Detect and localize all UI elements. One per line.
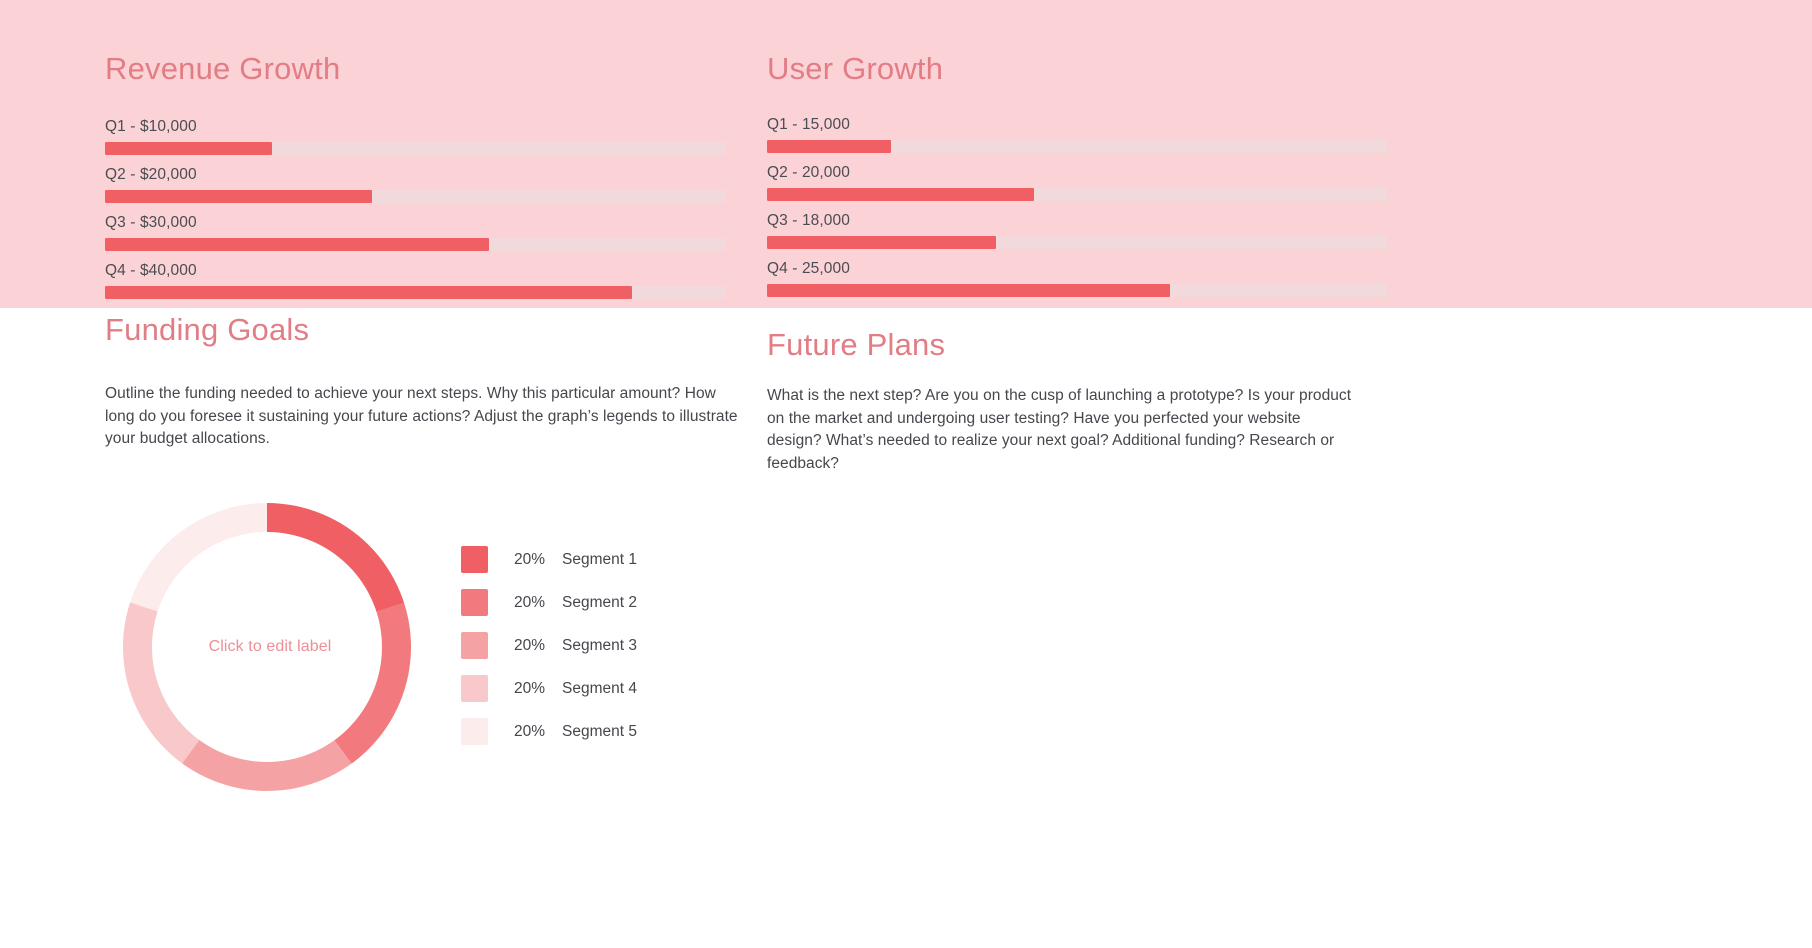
bar-track[interactable]: [767, 188, 1387, 201]
legend-percent: 20%: [514, 680, 558, 698]
legend-percent: 20%: [514, 637, 558, 655]
legend-swatch-icon: [461, 546, 488, 573]
donut-legend: 20% Segment 1 20% Segment 2 20% Segment …: [461, 538, 671, 753]
bar-group: Q4 - 25,000: [767, 260, 1387, 297]
funding-goals-title: Funding Goals: [105, 313, 745, 347]
legend-swatch-icon: [461, 589, 488, 616]
legend-percent: 20%: [514, 594, 558, 612]
bar-label: Q1 - $10,000: [105, 118, 725, 136]
donut-center-label[interactable]: Click to edit label: [123, 503, 411, 791]
bar-fill: [105, 286, 632, 299]
bar-track[interactable]: [105, 142, 725, 155]
legend-label[interactable]: Segment 1: [562, 551, 637, 569]
legend-item[interactable]: 20% Segment 1: [461, 538, 671, 581]
legend-label[interactable]: Segment 2: [562, 594, 637, 612]
bar-fill: [767, 140, 891, 153]
legend-item[interactable]: 20% Segment 4: [461, 667, 671, 710]
funding-goals-section: Funding Goals Outline the funding needed…: [105, 313, 745, 451]
bar-fill: [105, 190, 372, 203]
revenue-growth-section: Revenue Growth Q1 - $10,000 Q2 - $20,000…: [105, 52, 725, 310]
bar-group: Q3 - $30,000: [105, 214, 725, 251]
revenue-growth-title: Revenue Growth: [105, 52, 725, 86]
bar-label: Q3 - $30,000: [105, 214, 725, 232]
bar-track[interactable]: [105, 238, 725, 251]
bar-group: Q2 - 20,000: [767, 164, 1387, 201]
legend-label[interactable]: Segment 5: [562, 723, 637, 741]
future-plans-section: Future Plans What is the next step? Are …: [767, 328, 1352, 475]
bar-group: Q1 - $10,000: [105, 118, 725, 155]
bar-group: Q4 - $40,000: [105, 262, 725, 299]
legend-swatch-icon: [461, 718, 488, 745]
legend-item[interactable]: 20% Segment 5: [461, 710, 671, 753]
bar-label: Q3 - 18,000: [767, 212, 1387, 230]
bar-track[interactable]: [105, 286, 725, 299]
revenue-growth-bar-chart: Q1 - $10,000 Q2 - $20,000 Q3 - $30,000 Q…: [105, 118, 725, 299]
future-plans-body: What is the next step? Are you on the cu…: [767, 385, 1352, 475]
future-plans-title: Future Plans: [767, 328, 1352, 362]
funding-donut-chart[interactable]: Click to edit label: [123, 503, 411, 791]
legend-swatch-icon: [461, 632, 488, 659]
bar-group: Q3 - 18,000: [767, 212, 1387, 249]
bar-fill: [767, 188, 1034, 201]
bar-fill: [767, 236, 996, 249]
bar-label: Q4 - $40,000: [105, 262, 725, 280]
bar-label: Q2 - $20,000: [105, 166, 725, 184]
bar-group: Q1 - 15,000: [767, 116, 1387, 153]
legend-item[interactable]: 20% Segment 2: [461, 581, 671, 624]
bar-label: Q4 - 25,000: [767, 260, 1387, 278]
legend-percent: 20%: [514, 551, 558, 569]
user-growth-section: User Growth Q1 - 15,000 Q2 - 20,000 Q3 -…: [767, 52, 1387, 308]
funding-goals-body: Outline the funding needed to achieve yo…: [105, 383, 745, 451]
bar-fill: [767, 284, 1170, 297]
bar-fill: [105, 142, 272, 155]
user-growth-title: User Growth: [767, 52, 1387, 86]
bar-track[interactable]: [767, 284, 1387, 297]
legend-item[interactable]: 20% Segment 3: [461, 624, 671, 667]
legend-label[interactable]: Segment 3: [562, 637, 637, 655]
bar-label: Q1 - 15,000: [767, 116, 1387, 134]
bar-label: Q2 - 20,000: [767, 164, 1387, 182]
legend-percent: 20%: [514, 723, 558, 741]
user-growth-bar-chart: Q1 - 15,000 Q2 - 20,000 Q3 - 18,000 Q4 -…: [767, 116, 1387, 297]
bar-track[interactable]: [767, 236, 1387, 249]
bar-track[interactable]: [767, 140, 1387, 153]
legend-swatch-icon: [461, 675, 488, 702]
bar-track[interactable]: [105, 190, 725, 203]
bar-group: Q2 - $20,000: [105, 166, 725, 203]
bar-fill: [105, 238, 489, 251]
legend-label[interactable]: Segment 4: [562, 680, 637, 698]
